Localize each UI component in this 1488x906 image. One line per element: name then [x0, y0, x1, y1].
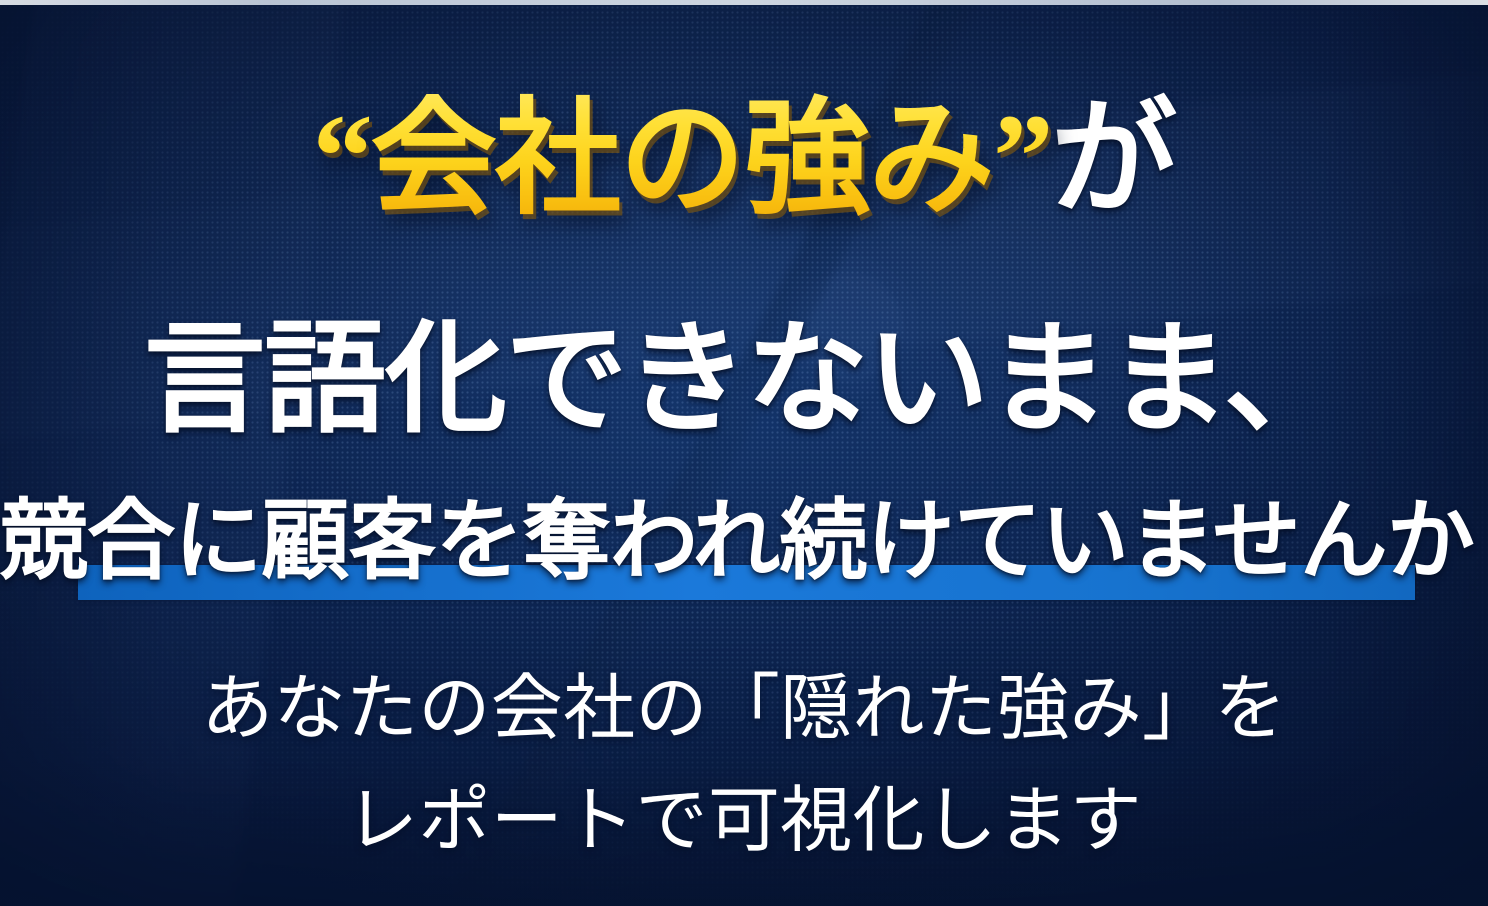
headline-line-3-wrapper: 競合に顧客を奪われ続けていませんか？	[0, 497, 1488, 607]
top-edge-strip	[0, 0, 1488, 5]
hero-banner: “会社の強み”が 言語化できないまま、 競合に顧客を奪われ続けていませんか？ あ…	[0, 0, 1488, 906]
subheadline-line-2: レポートで可視化します	[0, 784, 1488, 856]
headline-line-2: 言語化できないまま、	[0, 318, 1488, 440]
headline-line-3: 競合に顧客を奪われ続けていませんか？	[0, 497, 1488, 585]
opening-quote-mark: “	[312, 90, 370, 224]
closing-quote-mark: ”	[993, 90, 1051, 224]
headline-emphasis-company-strength: 会社の強み	[371, 85, 993, 232]
headline-line-1-particle: が	[1051, 85, 1176, 232]
banner-content: “会社の強み”が 言語化できないまま、 競合に顧客を奪われ続けていませんか？ あ…	[0, 0, 1488, 906]
headline-line-1: “会社の強み”が	[0, 96, 1488, 222]
subheadline-line-1: あなたの会社の「隠れた強み」を	[0, 672, 1488, 744]
